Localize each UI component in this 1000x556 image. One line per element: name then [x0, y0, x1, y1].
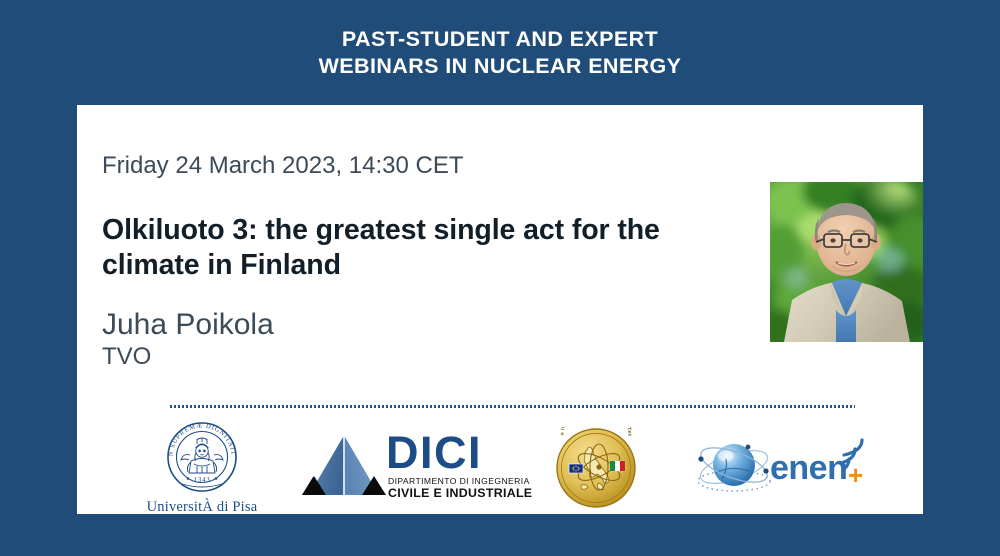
cirten-seal-icon: CIRTEN - Consorzio Interuniversitario pe… [555, 427, 637, 509]
enen-wordmark: enen [770, 449, 847, 487]
banner-line-2: WEBINARS IN NUCLEAR ENERGY [319, 53, 682, 80]
header-banner: PAST-STUDENT AND EXPERT WEBINARS IN NUCL… [0, 0, 1000, 105]
speaker-name: Juha Poikola [102, 308, 274, 342]
dici-wordmark: DICI [386, 430, 482, 475]
webinar-card: Friday 24 March 2023, 14:30 CET Olkiluot… [77, 105, 923, 514]
eu-flag-icon [569, 464, 583, 473]
divider [170, 405, 855, 408]
logo-dici: DICI DIPARTIMENTO DI INGEGNERIA CIVILE E… [302, 433, 517, 505]
banner-line-1: PAST-STUDENT AND EXPERT [342, 26, 658, 53]
event-date: Friday 24 March 2023, 14:30 CET [102, 152, 464, 180]
logo-enen-plus: enen + [692, 435, 872, 501]
pisa-wordmark: UniversitÀ di Pisa [132, 499, 272, 514]
dici-subtitle-line-2: CIVILE E INDUSTRIALE [388, 486, 532, 500]
dici-pyramid-icon [302, 433, 386, 503]
pisa-seal-year: 1343 [194, 476, 211, 484]
enen-plus-sign: + [848, 460, 863, 490]
logo-university-of-pisa: IN SUPREMÆ DIGNITATIS [132, 420, 272, 514]
sponsor-logo-row: IN SUPREMÆ DIGNITATIS [77, 415, 923, 514]
enen-plus-icon: enen + [692, 435, 872, 501]
portrait-image [770, 182, 923, 342]
speaker-affiliation: TVO [102, 343, 151, 371]
dici-subtitle-line-1: DIPARTIMENTO DI INGEGNERIA [388, 476, 530, 486]
talk-title: Olkiluoto 3: the greatest single act for… [102, 213, 742, 283]
logo-cirten: CIRTEN - Consorzio Interuniversitario pe… [555, 427, 637, 509]
speaker-portrait [770, 182, 923, 342]
italy-flag-icon [610, 461, 625, 471]
pisa-seal-icon: IN SUPREMÆ DIGNITATIS [132, 420, 272, 498]
